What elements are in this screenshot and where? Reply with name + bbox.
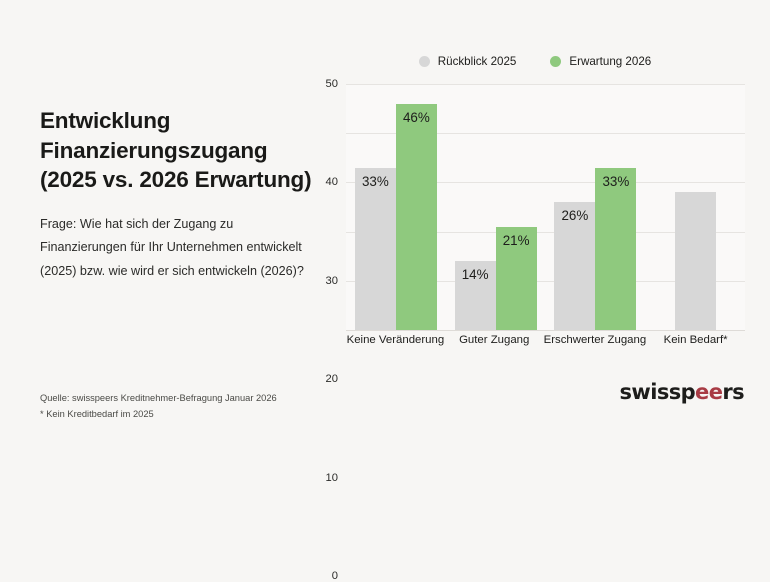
bar-chart: Rückblick 2025 Erwartung 2026 0102030405… <box>318 48 752 360</box>
bar-erwartung-2026[interactable]: 21% <box>496 227 537 330</box>
bar-value-label: 46% <box>403 111 430 124</box>
logo-part-1: swissp <box>620 380 696 404</box>
bar-group: 33%46% <box>346 84 446 330</box>
bars-layer: 33%46%14%21%26%33% <box>346 84 745 330</box>
y-axis-tick-label: 10 <box>326 472 338 484</box>
bar-rueckblick-2025[interactable]: 33% <box>355 168 396 330</box>
title-line-2: Finanzierungszugang <box>40 138 267 163</box>
logo-part-2: rs <box>722 380 744 404</box>
page-title: Entwicklung Finanzierungszugang (2025 vs… <box>40 106 315 195</box>
bar-erwartung-2026[interactable]: 46% <box>396 104 437 330</box>
asterisk-note: * Kein Kreditbedarf im 2025 <box>40 406 277 422</box>
bar-erwartung-2026[interactable]: 33% <box>595 168 636 330</box>
plot-area: 01020304050 33%46%14%21%26%33% <box>346 84 745 330</box>
bar-value-label: 33% <box>362 175 389 188</box>
gridline: 0 <box>346 330 745 331</box>
footer-notes: Quelle: swisspeers Kreditnehmer-Befragun… <box>40 390 277 423</box>
y-axis-tick-label: 50 <box>326 78 338 90</box>
y-axis-tick-label: 30 <box>326 275 338 287</box>
bar-group: 26%33% <box>546 84 646 330</box>
x-axis-category-label: Kein Bedarf* <box>646 334 745 346</box>
bar-group <box>645 84 745 330</box>
left-info-panel: Entwicklung Finanzierungszugang (2025 vs… <box>40 106 315 283</box>
y-axis-tick-label: 0 <box>332 570 338 582</box>
x-axis-labels: Keine VeränderungGuter ZugangErschwerter… <box>346 334 745 346</box>
bar-rueckblick-2025[interactable] <box>675 192 716 330</box>
y-axis-tick-label: 20 <box>326 373 338 385</box>
legend-swatch-icon <box>550 56 561 67</box>
legend-item-rueckblick-2025[interactable]: Rückblick 2025 <box>419 55 517 68</box>
y-axis-tick-label: 40 <box>326 176 338 188</box>
bar-value-label: 14% <box>462 268 489 281</box>
x-axis-category-label: Erschwerter Zugang <box>544 334 647 346</box>
legend-item-erwartung-2026[interactable]: Erwartung 2026 <box>550 55 651 68</box>
survey-question: Frage: Wie hat sich der Zugang zu Finanz… <box>40 213 315 283</box>
logo-accent: ee <box>695 380 722 404</box>
bar-group: 14%21% <box>446 84 546 330</box>
swisspeers-logo: swisspeers <box>620 382 744 403</box>
bar-value-label: 26% <box>561 209 588 222</box>
legend-label: Erwartung 2026 <box>569 55 651 68</box>
title-line-1: Entwicklung <box>40 108 170 133</box>
source-note: Quelle: swisspeers Kreditnehmer-Befragun… <box>40 390 277 406</box>
x-axis-category-label: Keine Veränderung <box>346 334 445 346</box>
title-line-3: (2025 vs. 2026 Erwartung) <box>40 167 311 192</box>
plot-wrapper: 01020304050 33%46%14%21%26%33% Keine Ver… <box>318 84 752 360</box>
chart-legend: Rückblick 2025 Erwartung 2026 <box>318 48 752 74</box>
bar-rueckblick-2025[interactable]: 14% <box>455 261 496 330</box>
legend-swatch-icon <box>419 56 430 67</box>
bar-rueckblick-2025[interactable]: 26% <box>554 202 595 330</box>
x-axis-category-label: Guter Zugang <box>445 334 544 346</box>
legend-label: Rückblick 2025 <box>438 55 517 68</box>
bar-value-label: 21% <box>503 234 530 247</box>
bar-value-label: 33% <box>602 175 629 188</box>
